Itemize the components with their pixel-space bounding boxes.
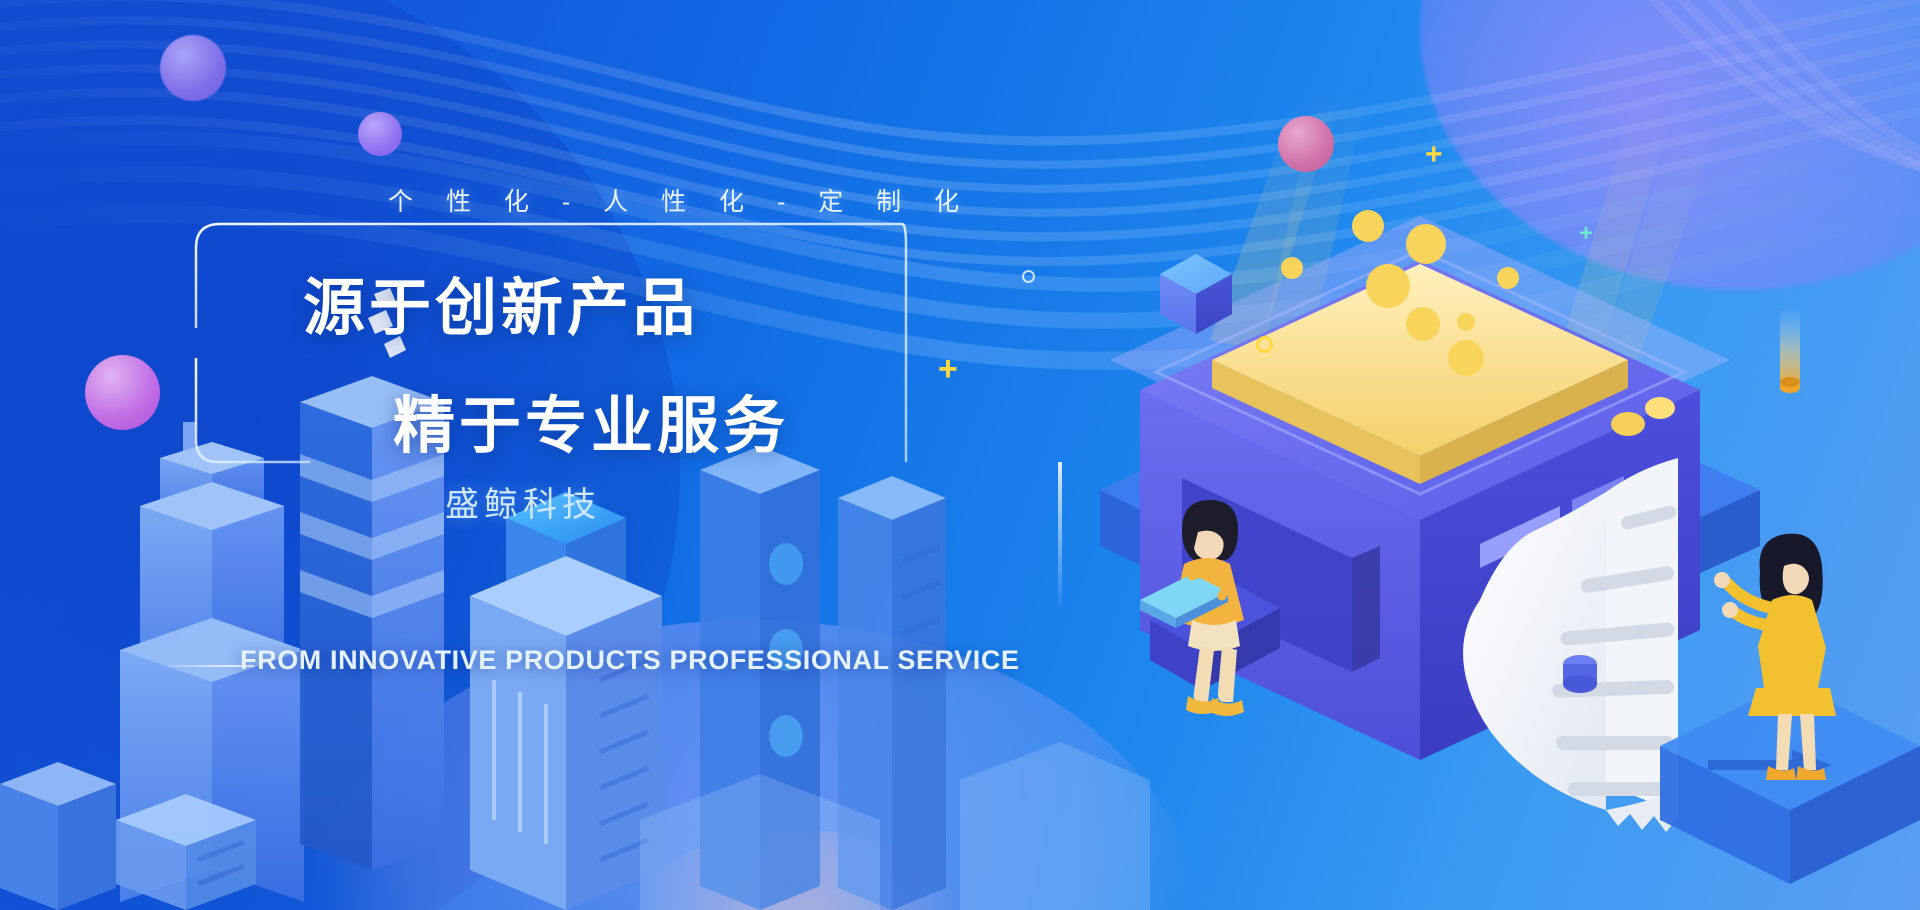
tagline: 个 性 化 - 人 性 化 - 定 制 化 [388,182,972,218]
hero-banner: + + + [0,0,1920,910]
yellow-plus-icon-right: + [1425,140,1443,170]
pink-sphere-icon [1278,116,1334,172]
violet-sphere-icon [85,355,160,430]
purple-sphere-icon [160,35,226,101]
hero-text-block: 个 性 化 - 人 性 化 - 定 制 化 源于创新产品 精于专业服务 盛鲸科技 [150,140,1110,660]
english-subtitle: FROM INNOVATIVE PRODUCTS PROFESSIONAL SE… [240,645,1020,676]
floating-cube-icon [1158,252,1234,336]
teal-plus-icon: + [1579,222,1593,246]
light-beam-cylinder-icon [1778,310,1802,400]
headline-line-1: 源于创新产品 [303,257,699,347]
headline-line-2: 精于专业服务 [393,375,789,465]
company-name: 盛鲸科技 [445,477,601,526]
pink-arc-bottom [610,830,990,910]
purple-blob-top-right [1420,0,1920,290]
yellow-ring-icon [1256,336,1273,353]
